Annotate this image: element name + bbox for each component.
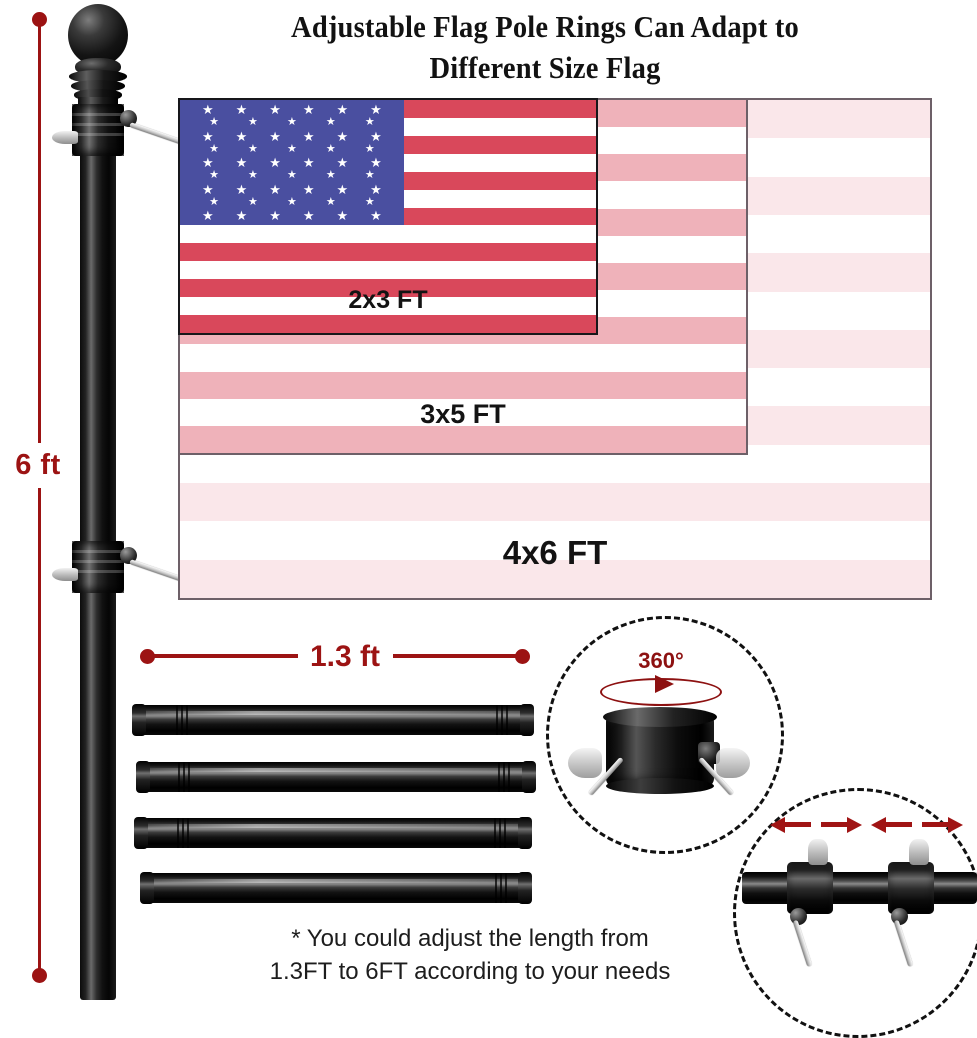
sliding-ring-right-screw <box>909 839 929 865</box>
star-icon: ★ <box>236 104 248 115</box>
star-icon: ★ <box>370 157 382 168</box>
star-icon: ★ <box>370 210 382 221</box>
star-icon: ★ <box>365 170 375 181</box>
sliding-ring-left <box>787 862 833 914</box>
star-icon: ★ <box>209 197 219 208</box>
rotating-ring-body <box>606 712 714 788</box>
star-icon: ★ <box>326 170 336 181</box>
pole-segment-4 <box>140 873 532 903</box>
flag-4x6-label: 4x6 FT <box>180 534 930 572</box>
star-icon: ★ <box>248 117 258 128</box>
flag-canton-stars: ★★★★★★★★★★★★★★★★★★★★★★★★★★★★★★★★★★★★★★★★… <box>180 100 404 225</box>
flag-stripe <box>180 483 930 521</box>
segment-thread <box>508 762 510 792</box>
segment-thread <box>501 705 503 735</box>
star-icon: ★ <box>248 197 258 208</box>
star-icon: ★ <box>287 170 297 181</box>
star-icon: ★ <box>303 157 315 168</box>
segment-thread <box>500 873 502 903</box>
star-icon: ★ <box>336 131 348 142</box>
star-icon: ★ <box>248 170 258 181</box>
star-row: ★★★★★★ <box>180 210 404 221</box>
upper-ring-thumb-screw <box>52 131 78 144</box>
dimension-dot-top <box>32 12 47 27</box>
star-icon: ★ <box>236 157 248 168</box>
flag-stripe <box>180 261 596 279</box>
flag-3x5-label: 3x5 FT <box>180 399 746 430</box>
rotation-clip-left-loop <box>568 748 602 778</box>
dimension-dot-bottom <box>32 968 47 983</box>
segment-gloss <box>144 768 528 772</box>
flag-stripe <box>180 243 596 261</box>
footnote-line-1: * You could adjust the length from <box>190 922 750 955</box>
title-line-1: Adjustable Flag Pole Rings Can Adapt to <box>291 9 799 44</box>
star-row: ★★★★★ <box>180 197 404 208</box>
horizontal-pole <box>742 872 977 904</box>
slide-arrow-left-2-icon <box>871 817 886 833</box>
sliding-ring-left-screw <box>808 839 828 865</box>
segment-end-cap <box>518 817 532 849</box>
star-icon: ★ <box>365 197 375 208</box>
ball-finial-icon <box>62 4 134 112</box>
star-icon: ★ <box>336 157 348 168</box>
segment-gloss <box>148 879 524 883</box>
slide-arrow-line-2 <box>821 822 847 827</box>
pole-segment-1 <box>132 705 534 735</box>
slide-arrow-right-2-icon <box>948 817 963 833</box>
segment-thread <box>177 818 179 848</box>
segment-gloss <box>140 711 526 715</box>
segment-end-cap <box>132 704 146 736</box>
segment-thread <box>503 762 505 792</box>
star-icon: ★ <box>209 170 219 181</box>
page-title: Adjustable Flag Pole Rings Can Adapt to … <box>182 6 909 88</box>
star-icon: ★ <box>326 197 336 208</box>
star-icon: ★ <box>326 117 336 128</box>
star-icon: ★ <box>336 104 348 115</box>
star-icon: ★ <box>209 117 219 128</box>
flag-stripe <box>180 225 596 243</box>
segment-end-cap <box>140 872 154 904</box>
footnote: * You could adjust the length from 1.3FT… <box>190 922 750 988</box>
star-icon: ★ <box>303 131 315 142</box>
star-icon: ★ <box>287 144 297 155</box>
star-icon: ★ <box>202 184 214 195</box>
ring-bottom-lip <box>606 778 714 794</box>
flag-2x3: ★★★★★★★★★★★★★★★★★★★★★★★★★★★★★★★★★★★★★★★★… <box>178 98 598 335</box>
flag-stripe <box>180 372 746 399</box>
segment-length-label: 1.3 ft <box>150 640 540 674</box>
pole-segment-3 <box>134 818 532 848</box>
star-icon: ★ <box>202 131 214 142</box>
infographic-canvas: Adjustable Flag Pole Rings Can Adapt to … <box>0 0 977 1000</box>
segment-thread <box>178 762 180 792</box>
pole-segment-2 <box>136 762 536 792</box>
segment-thread <box>182 818 184 848</box>
segment-thread <box>494 818 496 848</box>
segment-thread <box>498 762 500 792</box>
star-icon: ★ <box>370 184 382 195</box>
star-icon: ★ <box>287 117 297 128</box>
star-icon: ★ <box>269 210 281 221</box>
star-icon: ★ <box>370 104 382 115</box>
slide-arrow-line-3 <box>886 822 912 827</box>
star-row: ★★★★★ <box>180 144 404 155</box>
star-icon: ★ <box>269 157 281 168</box>
height-dimension-line <box>38 18 41 980</box>
star-icon: ★ <box>336 184 348 195</box>
segment-thread <box>495 873 497 903</box>
star-row: ★★★★★★ <box>180 157 404 168</box>
star-icon: ★ <box>303 104 315 115</box>
star-icon: ★ <box>269 104 281 115</box>
star-icon: ★ <box>236 131 248 142</box>
segment-thread <box>181 705 183 735</box>
segment-end-cap <box>522 761 536 793</box>
ring-shading <box>72 104 124 156</box>
star-icon: ★ <box>303 184 315 195</box>
star-icon: ★ <box>336 210 348 221</box>
slide-arrow-right-1-icon <box>847 817 862 833</box>
rotation-clip-right-loop <box>716 748 750 778</box>
star-icon: ★ <box>365 144 375 155</box>
star-icon: ★ <box>287 197 297 208</box>
segment-thread <box>499 818 501 848</box>
slide-arrow-line-1 <box>785 822 811 827</box>
star-row: ★★★★★ <box>180 170 404 181</box>
rotation-degree-label: 360° <box>596 648 726 674</box>
star-icon: ★ <box>326 144 336 155</box>
star-icon: ★ <box>248 144 258 155</box>
segment-end-cap <box>134 817 148 849</box>
star-icon: ★ <box>269 184 281 195</box>
star-icon: ★ <box>269 131 281 142</box>
segment-thread <box>176 705 178 735</box>
slide-arrow-left-1-icon <box>770 817 785 833</box>
star-row: ★★★★★★ <box>180 131 404 142</box>
lower-ring-thumb-screw <box>52 568 78 581</box>
slide-arrow-line-4 <box>922 822 948 827</box>
segment-thread <box>186 705 188 735</box>
ring-shading <box>72 541 124 593</box>
finial-ball <box>68 4 128 66</box>
star-icon: ★ <box>202 210 214 221</box>
segment-thread <box>188 762 190 792</box>
flag-stripe <box>180 315 596 333</box>
star-icon: ★ <box>370 131 382 142</box>
segment-end-cap <box>520 704 534 736</box>
ring-top-lip <box>603 707 717 727</box>
star-icon: ★ <box>202 157 214 168</box>
lower-clamp-ring <box>72 541 124 593</box>
star-icon: ★ <box>202 104 214 115</box>
star-row: ★★★★★★ <box>180 184 404 195</box>
flag-stripe <box>180 344 746 371</box>
star-icon: ★ <box>209 144 219 155</box>
star-row: ★★★★★★ <box>180 104 404 115</box>
flag-2x3-label: 2x3 FT <box>180 286 596 315</box>
segment-gloss <box>142 824 524 828</box>
sliding-ring-right <box>888 862 934 914</box>
star-icon: ★ <box>236 184 248 195</box>
segment-thread <box>504 818 506 848</box>
segment-thread <box>506 705 508 735</box>
segment-thread <box>183 762 185 792</box>
footnote-line-2: 1.3FT to 6FT according to your needs <box>190 955 750 988</box>
segment-end-cap <box>518 872 532 904</box>
star-row: ★★★★★ <box>180 117 404 128</box>
segment-thread <box>496 705 498 735</box>
segment-thread <box>505 873 507 903</box>
star-icon: ★ <box>303 210 315 221</box>
pole-height-label: 6 ft <box>0 443 76 488</box>
rotation-arrow-head-icon <box>655 675 674 693</box>
star-icon: ★ <box>236 210 248 221</box>
segment-thread <box>187 818 189 848</box>
segment-end-cap <box>136 761 150 793</box>
title-line-2: Different Size Flag <box>182 47 909 88</box>
star-icon: ★ <box>365 117 375 128</box>
upper-clamp-ring <box>72 104 124 156</box>
